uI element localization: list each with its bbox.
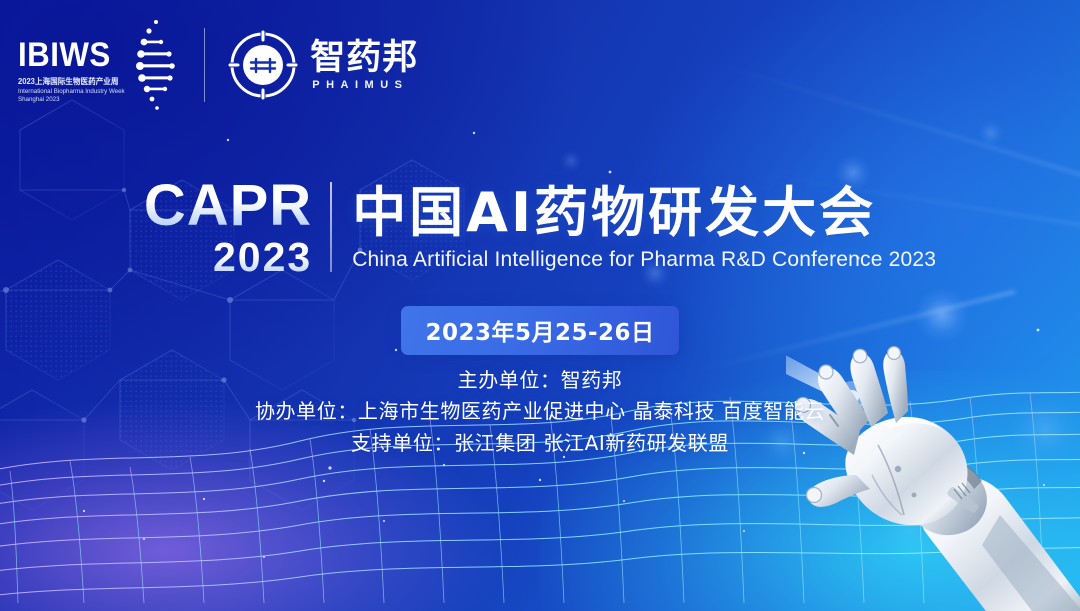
phaimus-logo[interactable]: 智药邦 PHAIMUS xyxy=(227,29,418,101)
robotic-hand-icon xyxy=(786,319,1080,611)
title-column: 中国AI药物研发大会 China Artificial Intelligence… xyxy=(332,178,936,278)
conference-poster: IBIWS 2023上海国际生物医药产业周 International Biop… xyxy=(0,0,1080,611)
ibiws-city-line: Shanghai 2023 xyxy=(18,96,125,105)
organizer-line-supporter: 支持单位：张江集团 张江AI新药研发联盟 xyxy=(351,429,729,457)
ibiws-cn-line: 2023上海国际生物医药产业周 xyxy=(18,77,125,88)
organizer-list: 主办单位：智药邦 协办单位：上海市生物医药产业促进中心 晶泰科技 百度智能云 支… xyxy=(0,366,1080,457)
organizer-line-coorganizer: 协办单位：上海市生物医药产业促进中心 晶泰科技 百度智能云 xyxy=(255,397,825,425)
circular-target-logo-icon xyxy=(227,29,299,101)
acronym-column: CAPR 2023 xyxy=(144,178,330,278)
dna-helix-icon xyxy=(132,16,178,116)
date-badge-wrapper: 2023年5月25-26日 xyxy=(0,306,1080,355)
page-title: 中国AI药物研发大会 xyxy=(352,184,936,241)
conference-year: 2023 xyxy=(213,237,312,278)
conference-acronym: CAPR xyxy=(144,178,312,233)
phaimus-en-name: PHAIMUS xyxy=(310,79,418,91)
title-block: CAPR 2023 中国AI药物研发大会 China Artificial In… xyxy=(0,178,1080,278)
ibiws-logo[interactable]: IBIWS 2023上海国际生物医药产业周 International Biop… xyxy=(18,14,178,116)
light-beam-icon xyxy=(699,57,1080,185)
ibiws-en-line: International Biopharma Industry Week xyxy=(18,88,125,97)
event-date-badge: 2023年5月25-26日 xyxy=(401,306,678,355)
logo-divider xyxy=(204,28,205,102)
phaimus-cn-name: 智药邦 xyxy=(310,41,418,77)
ibiws-wordmark: IBIWS xyxy=(18,38,121,72)
page-subtitle: China Artificial Intelligence for Pharma… xyxy=(352,248,936,272)
logo-bar: IBIWS 2023上海国际生物医药产业周 International Biop… xyxy=(18,14,418,116)
organizer-line-host: 主办单位：智药邦 xyxy=(458,366,623,394)
